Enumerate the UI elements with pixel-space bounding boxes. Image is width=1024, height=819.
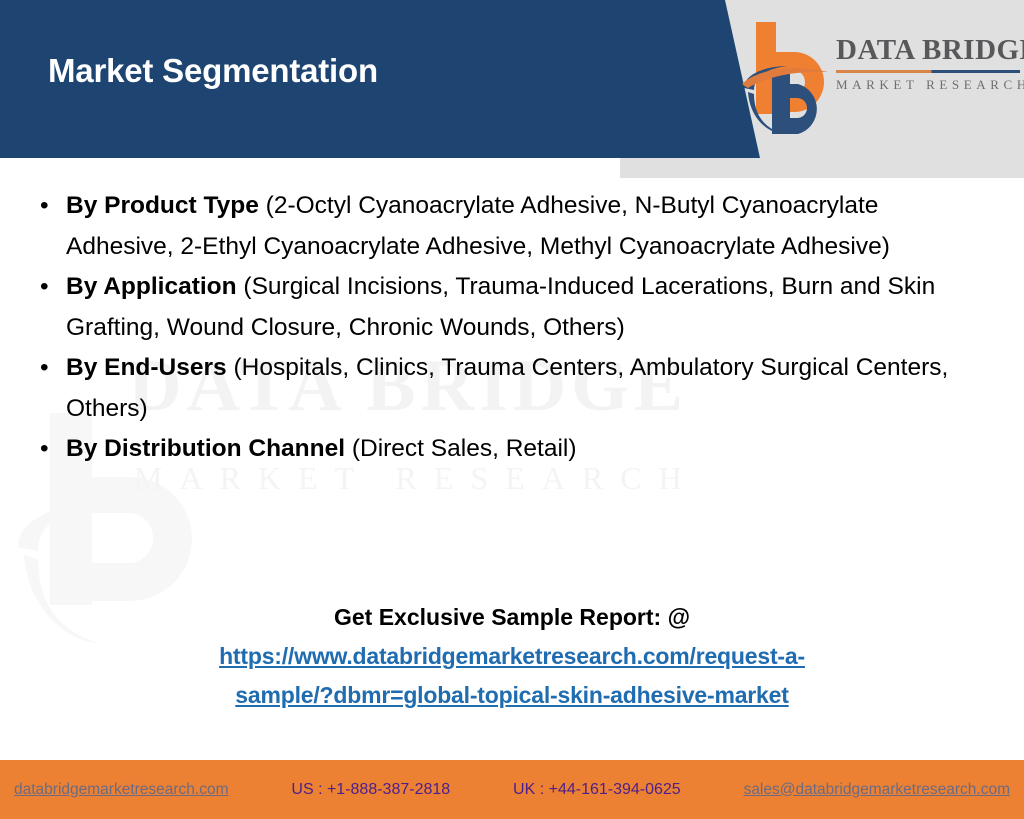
footer-uk-phone: UK : +44-161-394-0625 [513, 781, 681, 799]
logo-name-secondary: MARKET RESEARCH [836, 77, 1020, 93]
bullet-detail: (Direct Sales, Retail) [345, 435, 576, 462]
data-bridge-logo: DATA BRIDGE MARKET RESEARCH [736, 18, 1020, 138]
footer-content: databridgemarketresearch.com US : +1-888… [0, 781, 1024, 799]
footer-email-link[interactable]: sales@databridgemarketresearch.com [744, 781, 1010, 799]
footer-bar: databridgemarketresearch.com US : +1-888… [0, 760, 1024, 819]
footer-website-link[interactable]: databridgemarketresearch.com [14, 781, 229, 799]
list-item: •By Application (Surgical Incisions, Tra… [34, 267, 964, 348]
bullet-heading: By Product Type [66, 192, 259, 219]
header-banner: Market Segmentation [0, 0, 1024, 178]
bullet-dot-icon: • [40, 267, 49, 308]
bullet-heading: By Application [66, 273, 237, 300]
sample-report-link[interactable]: https://www.databridgemarketresearch.com… [0, 637, 1024, 715]
segmentation-content: •By Product Type (2-Octyl Cyanoacrylate … [0, 186, 1024, 470]
list-item: •By End-Users (Hospitals, Clinics, Traum… [34, 348, 964, 429]
slide: Market Segmentation [0, 0, 1024, 819]
page-title: Market Segmentation [48, 52, 378, 90]
cta-block: Get Exclusive Sample Report: @ https://w… [0, 598, 1024, 715]
segmentation-list: •By Product Type (2-Octyl Cyanoacrylate … [0, 186, 1024, 470]
sample-report-link-line2: sample/?dbmr=global-topical-skin-adhesiv… [0, 676, 1024, 715]
bullet-dot-icon: • [40, 429, 49, 470]
bullet-dot-icon: • [40, 186, 49, 227]
cta-label: Get Exclusive Sample Report: @ [0, 598, 1024, 637]
footer-us-phone: US : +1-888-387-2818 [291, 781, 450, 799]
sample-report-link-line1: https://www.databridgemarketresearch.com… [219, 643, 805, 669]
bullet-dot-icon: • [40, 348, 49, 389]
logo-wordmark: DATA BRIDGE MARKET RESEARCH [836, 36, 1020, 93]
list-item: •By Distribution Channel (Direct Sales, … [34, 429, 964, 470]
bullet-heading: By End-Users [66, 354, 227, 381]
logo-divider-rule [836, 70, 1020, 73]
logo-name-primary: DATA BRIDGE [836, 36, 1020, 65]
list-item: •By Product Type (2-Octyl Cyanoacrylate … [34, 186, 964, 267]
logo-mark-icon [736, 18, 832, 136]
bullet-heading: By Distribution Channel [66, 435, 345, 462]
